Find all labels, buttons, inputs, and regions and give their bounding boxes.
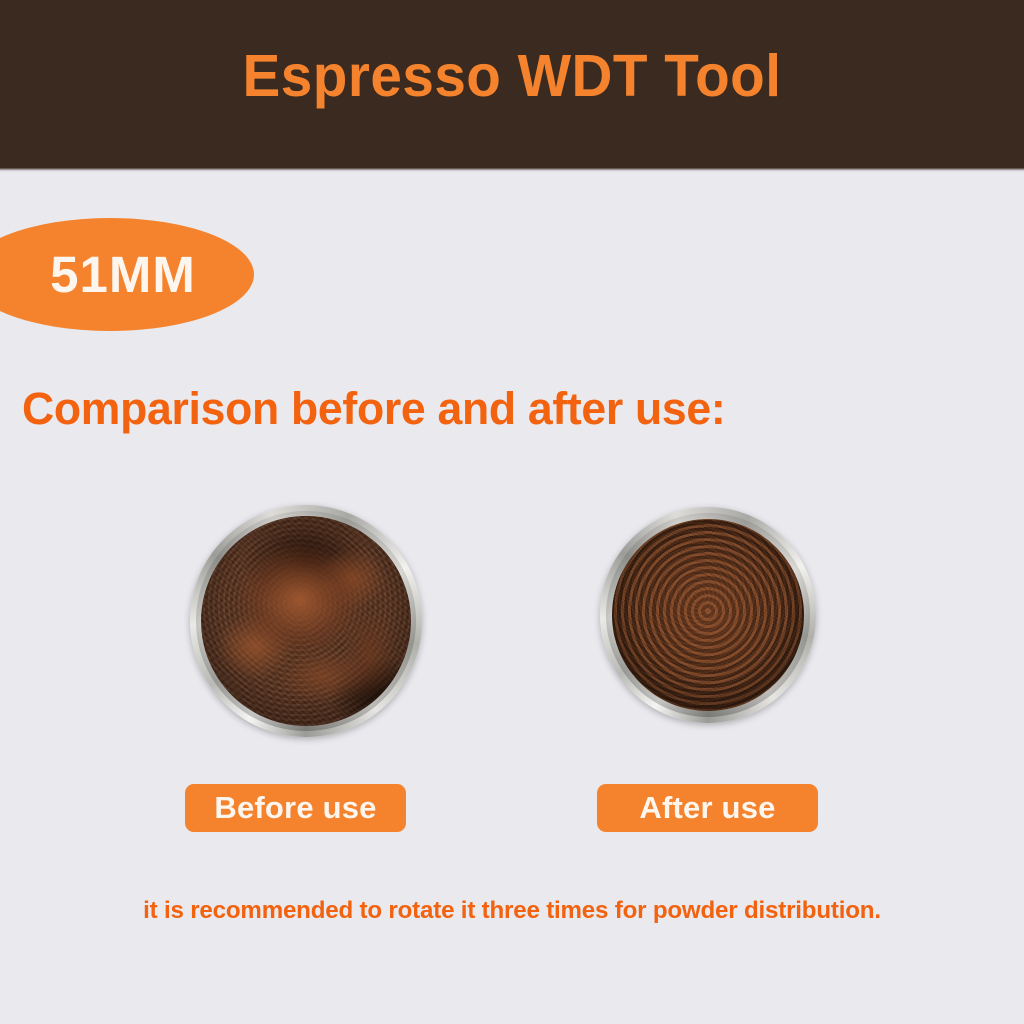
- portafilter-basket-before: [190, 505, 422, 737]
- portafilter-basket-after: [600, 507, 816, 723]
- header-banner: Espresso WDT Tool: [0, 0, 1024, 168]
- footnote-text: it is recommended to rotate it three tim…: [8, 897, 1017, 925]
- caption-before-use: Before use: [185, 784, 406, 832]
- coffee-grounds-evenly-distributed: [612, 519, 804, 711]
- page-title: Espresso WDT Tool: [20, 46, 1003, 108]
- caption-after-use: After use: [597, 784, 818, 832]
- grounds-vignette: [201, 516, 411, 726]
- coffee-grounds-clumpy-uneven: [201, 516, 411, 726]
- grounds-vignette: [612, 519, 804, 711]
- comparison-row: [0, 495, 1024, 745]
- size-badge-label: 51MM: [24, 245, 196, 304]
- header-divider: [0, 168, 1024, 172]
- size-badge: 51MM: [0, 218, 254, 331]
- comparison-heading: Comparison before and after use:: [22, 383, 725, 435]
